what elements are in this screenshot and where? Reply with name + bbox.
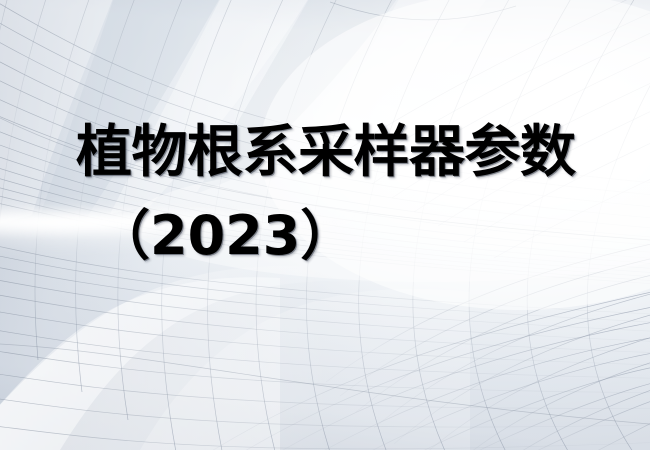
slide-title-line-2-year: （2023）	[96, 206, 354, 266]
slide-title-block: 植物根系采样器参数 （2023）	[0, 0, 650, 450]
title-slide: 植物根系采样器参数 （2023）	[0, 0, 650, 450]
slide-title-line-1: 植物根系采样器参数	[76, 122, 576, 184]
